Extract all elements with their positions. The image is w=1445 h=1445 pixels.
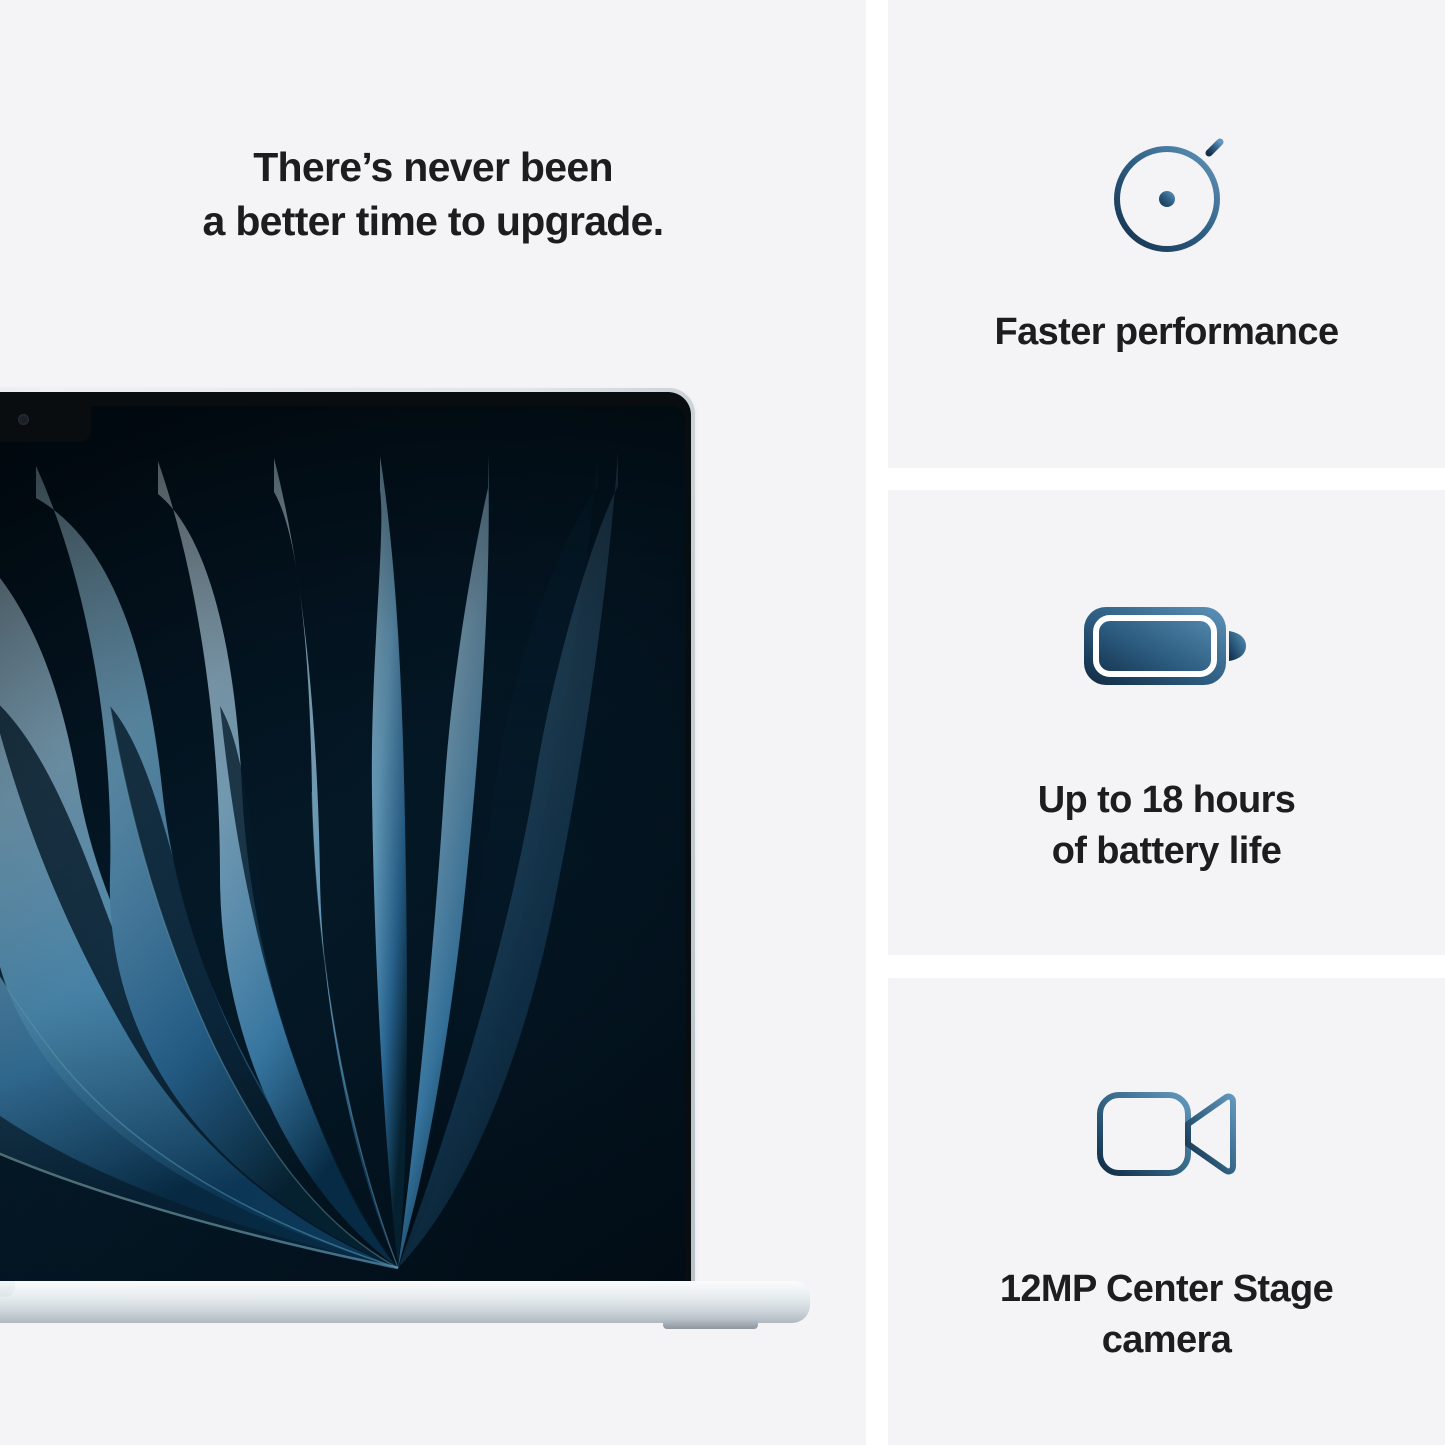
laptop-foot: [663, 1320, 758, 1329]
feature-panel-camera: 12MP Center Stage camera: [888, 978, 1445, 1445]
feature-label-battery: Up to 18 hours of battery life: [1038, 775, 1296, 875]
video-camera-icon-svg: [1092, 1078, 1242, 1188]
macbook-air-product-image: [0, 388, 695, 1348]
promo-stage: There’s never been a better time to upgr…: [0, 0, 1445, 1445]
wallpaper-artwork: [0, 406, 685, 1283]
stopwatch-icon-svg: [1092, 111, 1242, 261]
webcam-icon: [18, 414, 29, 425]
battery-icon-svg: [1079, 589, 1254, 699]
page-title: There’s never been a better time to upgr…: [0, 140, 866, 248]
feature-label-line-2: camera: [1000, 1315, 1333, 1365]
video-camera-icon: [1092, 1058, 1242, 1208]
feature-label-line-1: 12MP Center Stage: [1000, 1264, 1333, 1314]
feature-label-line-1: Up to 18 hours: [1038, 775, 1296, 825]
feature-panel-performance: Faster performance: [888, 0, 1445, 468]
battery-icon: [1079, 569, 1254, 719]
stopwatch-icon: [1092, 111, 1242, 261]
feature-panel-battery: Up to 18 hours of battery life: [888, 490, 1445, 955]
camera-notch: [0, 402, 91, 442]
hero-panel: There’s never been a better time to upgr…: [0, 0, 866, 1445]
display-screen: [0, 406, 685, 1283]
feature-label-camera: 12MP Center Stage camera: [1000, 1264, 1333, 1364]
headline-line-2: a better time to upgrade.: [0, 194, 866, 248]
laptop-base: [0, 1281, 810, 1323]
feature-label-line-2: of battery life: [1038, 826, 1296, 876]
laptop-lid: [0, 388, 695, 1293]
feature-label-line-1: Faster performance: [994, 307, 1338, 357]
feature-label-performance: Faster performance: [994, 307, 1338, 357]
display-bezel: [0, 392, 691, 1289]
headline-line-1: There’s never been: [0, 140, 866, 194]
